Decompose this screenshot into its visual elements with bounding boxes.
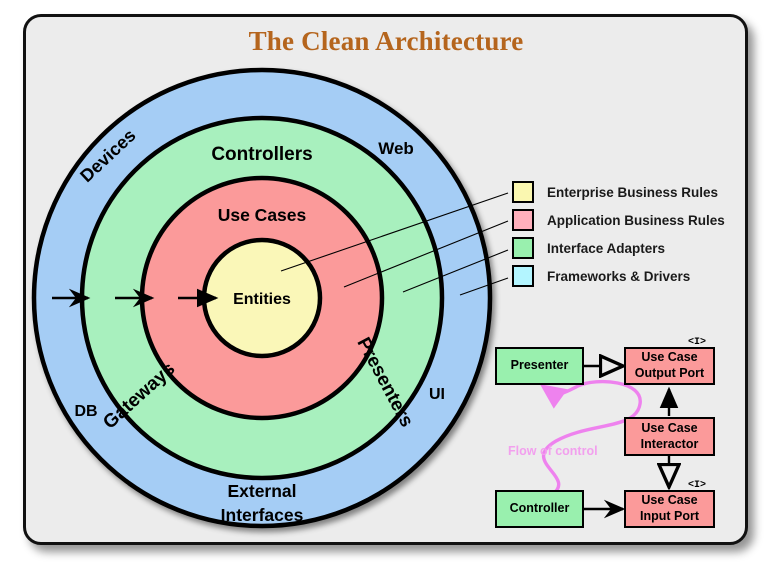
box-label-line2: Output Port [635, 366, 704, 380]
label-external-interfaces-line1: External [227, 481, 296, 501]
legend-item-enterprise-business-rules: Enterprise Business Rules [512, 178, 752, 206]
legend-swatch-icon [512, 237, 534, 259]
label-entities: Entities [233, 291, 291, 308]
box-presenter: Presenter [495, 347, 584, 385]
label-db: DB [74, 403, 97, 420]
box-label: Presenter [511, 358, 569, 374]
legend-label: Application Business Rules [547, 213, 725, 228]
box-use-case-output-port: Use Case Output Port [624, 347, 715, 385]
box-label-line2: Interactor [641, 437, 699, 451]
legend-item-application-business-rules: Application Business Rules [512, 206, 752, 234]
label-web: Web [378, 139, 414, 158]
flow-of-control-label: Flow of control [508, 444, 598, 458]
legend-label: Frameworks & Drivers [547, 269, 690, 284]
legend: Enterprise Business Rules Application Bu… [512, 178, 752, 290]
box-label-line1: Use Case [641, 421, 697, 435]
clean-architecture-diagram: The Clean Architecture [0, 0, 772, 567]
legend-item-interface-adapters: Interface Adapters [512, 234, 752, 262]
legend-swatch-icon [512, 209, 534, 231]
legend-label: Enterprise Business Rules [547, 185, 718, 200]
label-external-interfaces-line2: Interfaces [221, 505, 304, 525]
legend-swatch-icon [512, 181, 534, 203]
box-controller: Controller [495, 490, 584, 528]
box-label-line1: Use Case [641, 493, 697, 507]
label-use-cases: Use Cases [218, 205, 307, 225]
box-label-line2: Input Port [640, 509, 699, 523]
box-use-case-input-port: Use Case Input Port [624, 490, 715, 528]
box-use-case-interactor: Use Case Interactor [624, 417, 715, 456]
legend-label: Interface Adapters [547, 241, 665, 256]
interface-marker-output-port: <I> [688, 337, 706, 348]
legend-item-frameworks-drivers: Frameworks & Drivers [512, 262, 752, 290]
box-label-line1: Use Case [641, 350, 697, 364]
legend-swatch-icon [512, 265, 534, 287]
box-label: Controller [510, 501, 570, 517]
label-ui: UI [429, 386, 445, 403]
interface-marker-input-port: <I> [688, 480, 706, 491]
label-controllers: Controllers [211, 144, 312, 165]
